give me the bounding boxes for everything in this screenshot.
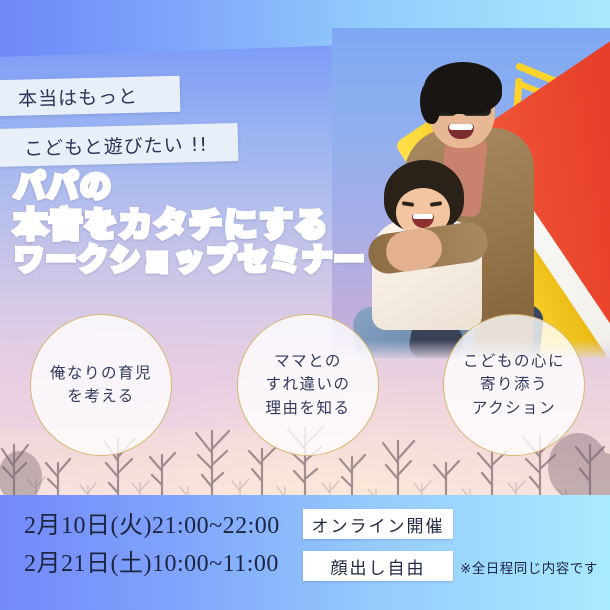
father-hair-side xyxy=(420,82,440,124)
title-line-3: ワークショップセミナー xyxy=(14,244,366,279)
badge-2-line-1: ママとの xyxy=(274,350,342,373)
headline-banner-2: こどもと遊びたい !! xyxy=(0,123,238,167)
badge-3-line-1: こどもの心に xyxy=(463,350,565,373)
title-line-2: 本音をカタチにする xyxy=(14,206,366,244)
tag-online-event: オンライン開催 xyxy=(303,509,453,539)
badge-2-line-2: すれ違いの xyxy=(265,373,350,396)
badge-1-line-1: 俺なりの育児 xyxy=(50,362,152,385)
badge-2-line-3: 理由を知る xyxy=(265,397,350,420)
schedule-date-2: 2月21日(土)10:00~11:00 xyxy=(24,545,280,583)
schedule-note: ※全日程同じ内容です xyxy=(460,557,598,577)
schedule-bar: 2月10日(火)21:00~22:00 2月21日(土)10:00~11:00 … xyxy=(0,495,610,610)
headline-banner-2-text: こどもと遊びたい !! xyxy=(24,129,209,160)
child-teeth xyxy=(413,214,433,219)
badge-circle-2: ママとの すれ違いの 理由を知る xyxy=(237,314,379,456)
headline-banner-1-text: 本当はもっと xyxy=(18,81,139,111)
badge-circle-3: こどもの心に 寄り添う アクション xyxy=(443,314,585,456)
badge-circle-1: 俺なりの育児 を考える xyxy=(30,314,172,456)
hero-photo-father-and-child xyxy=(332,28,610,358)
schedule-dates: 2月10日(火)21:00~22:00 2月21日(土)10:00~11:00 xyxy=(24,507,280,584)
badge-3-line-2: 寄り添う xyxy=(480,373,548,396)
schedule-date-1: 2月10日(火)21:00~22:00 xyxy=(24,507,280,545)
poster-canvas: 本当はもっと こどもと遊びたい !! パパの 本音をカタチにする ワークショップ… xyxy=(0,0,610,610)
title-line-1: パパの xyxy=(14,170,366,206)
badge-1-line-2: を考える xyxy=(67,385,135,408)
father-teeth xyxy=(449,124,473,130)
badge-3-line-3: アクション xyxy=(472,397,556,420)
tag-camera-optional: 顔出し自由 xyxy=(303,551,453,581)
main-title: パパの 本音をカタチにする ワークショップセミナー xyxy=(14,170,366,279)
headline-banner-1: 本当はもっと xyxy=(0,76,180,117)
